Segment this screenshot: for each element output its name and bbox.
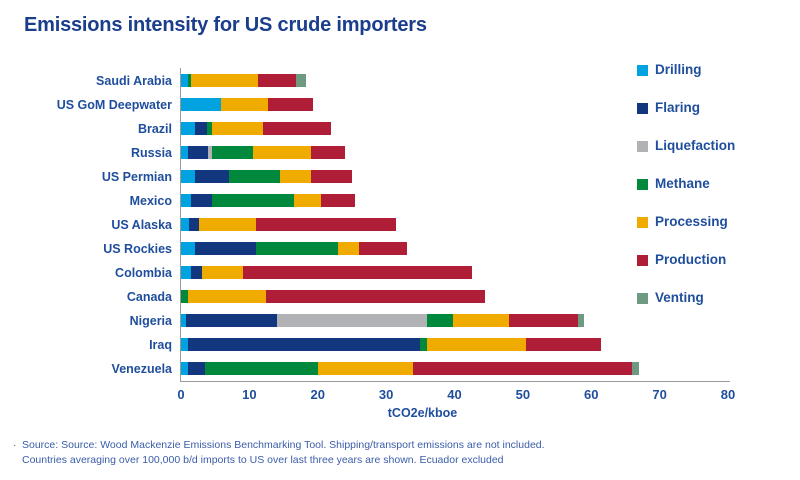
bar-segment-production[interactable] <box>268 98 313 111</box>
legend-item-flaring[interactable]: Flaring <box>637 100 700 116</box>
legend-item-liquefaction[interactable]: Liquefaction <box>637 138 735 154</box>
legend-swatch-icon <box>637 255 648 266</box>
bar-segment-drilling[interactable] <box>181 218 189 231</box>
x-axis-title: tCO2e/kboe <box>0 406 800 420</box>
category-label: Canada <box>0 291 172 304</box>
x-axis-tick-label: 50 <box>503 387 543 402</box>
legend-swatch-icon <box>637 65 648 76</box>
legend-label: Liquefaction <box>655 139 735 153</box>
bar-stack[interactable] <box>181 170 352 183</box>
legend-swatch-icon <box>637 293 648 304</box>
bar-segment-production[interactable] <box>258 74 296 87</box>
x-axis-tick-label: 10 <box>229 387 269 402</box>
bar-segment-processing[interactable] <box>212 122 263 135</box>
category-label: Colombia <box>0 267 172 280</box>
bar-segment-flaring[interactable] <box>195 242 257 255</box>
bar-segment-flaring[interactable] <box>191 266 201 279</box>
x-axis-tick-label: 40 <box>435 387 475 402</box>
bar-stack[interactable] <box>181 218 396 231</box>
bar-stack[interactable] <box>181 290 485 303</box>
bar-segment-methane[interactable] <box>420 338 427 351</box>
legend-swatch-icon <box>637 103 648 114</box>
bar-stack[interactable] <box>181 338 602 351</box>
bar-stack[interactable] <box>181 194 355 207</box>
bar-stack[interactable] <box>181 242 407 255</box>
category-label: US Permian <box>0 171 172 184</box>
bar-segment-venting[interactable] <box>296 74 306 87</box>
bar-segment-flaring[interactable] <box>189 218 199 231</box>
bar-segment-processing[interactable] <box>427 338 526 351</box>
bar-segment-production[interactable] <box>243 266 472 279</box>
bar-stack[interactable] <box>181 122 331 135</box>
x-axis-line <box>181 381 730 382</box>
bar-segment-production[interactable] <box>321 194 355 207</box>
bar-segment-methane[interactable] <box>205 362 318 375</box>
bar-segment-drilling[interactable] <box>181 146 188 159</box>
legend-item-production[interactable]: Production <box>637 252 726 268</box>
bar-segment-drilling[interactable] <box>181 266 191 279</box>
bar-segment-drilling[interactable] <box>181 362 188 375</box>
category-label: Saudi Arabia <box>0 75 172 88</box>
x-axis-tick-label: 60 <box>571 387 611 402</box>
bar-segment-processing[interactable] <box>191 74 257 87</box>
bar-segment-processing[interactable] <box>294 194 321 207</box>
bar-segment-drilling[interactable] <box>181 170 195 183</box>
bar-segment-production[interactable] <box>311 146 345 159</box>
bar-stack[interactable] <box>181 98 313 111</box>
legend-label: Production <box>655 253 726 267</box>
bar-segment-methane[interactable] <box>212 146 253 159</box>
bar-stack[interactable] <box>181 146 345 159</box>
bar-segment-methane[interactable] <box>427 314 453 327</box>
legend-label: Flaring <box>655 101 700 115</box>
bar-segment-processing[interactable] <box>199 218 256 231</box>
category-label: Russia <box>0 147 172 160</box>
footnote: Source: Source: Wood Mackenzie Emissions… <box>22 438 722 468</box>
bar-segment-production[interactable] <box>256 218 396 231</box>
bar-segment-drilling[interactable] <box>181 98 221 111</box>
legend-item-processing[interactable]: Processing <box>637 214 728 230</box>
bar-segment-processing[interactable] <box>338 242 359 255</box>
category-label: Mexico <box>0 195 172 208</box>
bar-segment-processing[interactable] <box>202 266 243 279</box>
footnote-bullet: · <box>13 440 16 451</box>
bar-segment-production[interactable] <box>263 122 331 135</box>
page-title: Emissions intensity for US crude importe… <box>24 14 427 37</box>
bar-segment-processing[interactable] <box>453 314 509 327</box>
x-axis-tick-label: 70 <box>640 387 680 402</box>
legend-label: Drilling <box>655 63 702 77</box>
bar-segment-processing[interactable] <box>318 362 414 375</box>
bar-segment-drilling[interactable] <box>181 338 188 351</box>
legend-item-drilling[interactable]: Drilling <box>637 62 702 78</box>
bar-segment-processing[interactable] <box>221 98 268 111</box>
bar-segment-drilling[interactable] <box>181 242 195 255</box>
bar-segment-production[interactable] <box>413 362 632 375</box>
category-label: US Rockies <box>0 243 172 256</box>
bar-segment-drilling[interactable] <box>181 122 195 135</box>
footnote-line-1: Source: Source: Wood Mackenzie Emissions… <box>22 438 722 453</box>
legend-label: Methane <box>655 177 710 191</box>
category-label: US GoM Deepwater <box>0 99 172 112</box>
bar-segment-flaring[interactable] <box>195 170 229 183</box>
bar-segment-drilling[interactable] <box>181 74 188 87</box>
bar-segment-processing[interactable] <box>253 146 311 159</box>
bar-segment-methane[interactable] <box>229 170 280 183</box>
bar-segment-venting[interactable] <box>578 314 585 327</box>
bar-segment-flaring[interactable] <box>188 146 209 159</box>
bar-segment-flaring[interactable] <box>188 362 205 375</box>
bar-segment-flaring[interactable] <box>195 122 207 135</box>
bar-segment-flaring[interactable] <box>188 338 420 351</box>
bar-stack[interactable] <box>181 266 472 279</box>
bar-segment-venting[interactable] <box>632 362 639 375</box>
bar-segment-production[interactable] <box>526 338 601 351</box>
legend-swatch-icon <box>637 179 648 190</box>
legend-label: Processing <box>655 215 728 229</box>
bar-segment-production[interactable] <box>311 170 352 183</box>
bar-segment-production[interactable] <box>266 290 485 303</box>
legend-swatch-icon <box>637 217 648 228</box>
category-axis-labels: Saudi ArabiaUS GoM DeepwaterBrazilRussia… <box>0 68 172 381</box>
bar-segment-processing[interactable] <box>188 290 267 303</box>
bar-segment-processing[interactable] <box>280 170 311 183</box>
category-label: Brazil <box>0 123 172 136</box>
category-label: Nigeria <box>0 315 172 328</box>
category-label: Venezuela <box>0 363 172 376</box>
legend-item-venting[interactable]: Venting <box>637 290 704 306</box>
bar-segment-methane[interactable] <box>212 194 294 207</box>
bar-segment-production[interactable] <box>509 314 577 327</box>
bar-segment-methane[interactable] <box>181 290 188 303</box>
bar-stack[interactable] <box>181 362 639 375</box>
legend-item-methane[interactable]: Methane <box>637 176 710 192</box>
category-label: Iraq <box>0 339 172 352</box>
x-axis-title-text: tCO2e/kboe <box>388 406 457 420</box>
x-axis-tick-label: 30 <box>366 387 406 402</box>
footnote-line-2: Countries averaging over 100,000 b/d imp… <box>22 453 722 468</box>
bar-segment-flaring[interactable] <box>186 314 276 327</box>
bar-stack[interactable] <box>181 314 584 327</box>
x-axis-tick-label: 80 <box>708 387 748 402</box>
bar-segment-liquefaction[interactable] <box>277 314 427 327</box>
bar-segment-methane[interactable] <box>256 242 338 255</box>
x-axis-tick-label: 20 <box>298 387 338 402</box>
x-axis-tick-label: 0 <box>161 387 201 402</box>
category-label: US Alaska <box>0 219 172 232</box>
legend-label: Venting <box>655 291 704 305</box>
bar-segment-production[interactable] <box>359 242 407 255</box>
bar-segment-flaring[interactable] <box>191 194 212 207</box>
legend-swatch-icon <box>637 141 648 152</box>
bar-segment-drilling[interactable] <box>181 194 191 207</box>
bar-stack[interactable] <box>181 74 306 87</box>
